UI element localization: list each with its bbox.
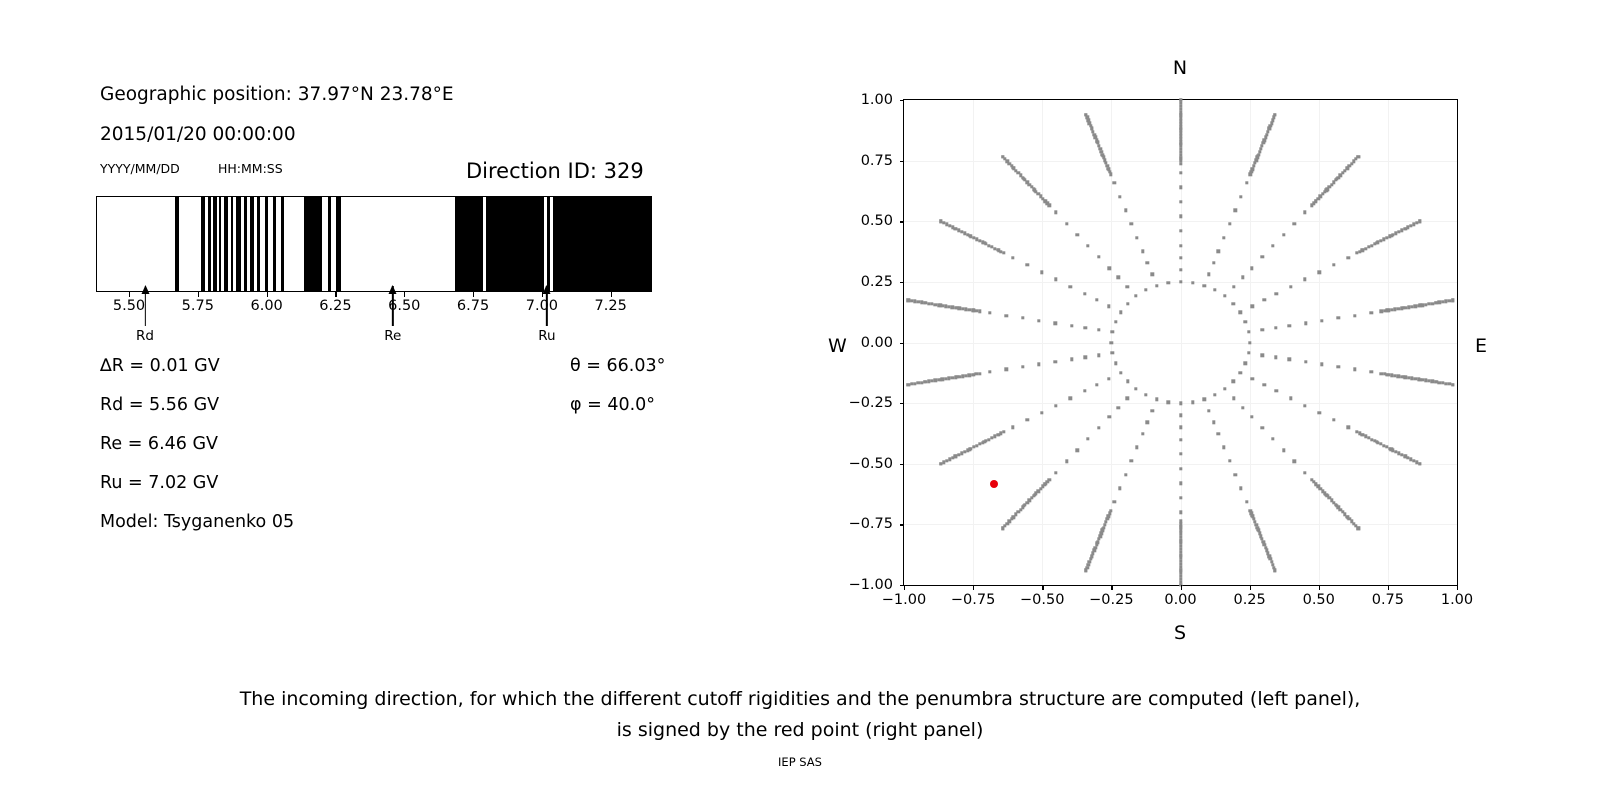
direction-point bbox=[1179, 244, 1182, 247]
direction-point bbox=[1191, 281, 1194, 284]
direction-point bbox=[1021, 365, 1024, 368]
x-axis-tick bbox=[1111, 585, 1112, 590]
direction-point bbox=[906, 299, 909, 302]
direction-point bbox=[1251, 304, 1254, 307]
direction-point bbox=[942, 221, 945, 224]
direction-point bbox=[966, 448, 969, 451]
direction-points-layer bbox=[904, 100, 1457, 585]
direction-point bbox=[1303, 404, 1306, 407]
direction-point bbox=[947, 305, 950, 308]
direction-point bbox=[1222, 446, 1225, 449]
y-axis-tick-label: −1.00 bbox=[849, 577, 893, 593]
y-axis-tick-label: 0.75 bbox=[861, 153, 893, 169]
direction-point bbox=[1144, 288, 1147, 291]
direction-point bbox=[1223, 387, 1226, 390]
direction-point bbox=[945, 459, 948, 462]
y-axis-tick bbox=[900, 403, 905, 404]
direction-point bbox=[1179, 110, 1182, 113]
direction-point bbox=[954, 227, 957, 230]
penumbra-forbidden-band bbox=[257, 197, 260, 291]
direction-point bbox=[978, 442, 981, 445]
y-axis-tick-label: 1.00 bbox=[861, 92, 893, 108]
direction-point bbox=[1011, 256, 1014, 259]
x-axis-tick bbox=[1250, 585, 1251, 590]
direction-point bbox=[945, 223, 948, 226]
penumbra-axis-tick-label: 6.25 bbox=[319, 298, 351, 314]
direction-point bbox=[1357, 527, 1360, 530]
direction-point bbox=[960, 451, 963, 454]
direction-point bbox=[1146, 421, 1149, 424]
direction-point bbox=[1248, 341, 1251, 344]
direction-point bbox=[1232, 397, 1235, 400]
direction-point bbox=[1107, 304, 1110, 307]
direction-point bbox=[960, 230, 963, 233]
direction-point bbox=[1002, 251, 1005, 254]
direction-point bbox=[1179, 229, 1182, 232]
direction-point bbox=[917, 381, 920, 384]
direction-point bbox=[1179, 280, 1182, 283]
direction-point bbox=[1179, 215, 1182, 218]
direction-point bbox=[954, 454, 957, 457]
direction-point bbox=[1108, 266, 1111, 269]
direction-point bbox=[990, 436, 993, 439]
y-axis-tick-label: 0.00 bbox=[861, 335, 893, 351]
direction-point bbox=[981, 441, 984, 444]
direction-point bbox=[1130, 459, 1133, 462]
penumbra-rigidity-axis: 5.505.756.006.256.506.757.007.25 bbox=[96, 292, 652, 306]
direction-point bbox=[1337, 316, 1340, 319]
direction-point bbox=[1288, 324, 1291, 327]
y-axis-tick bbox=[900, 282, 905, 283]
direction-point bbox=[1070, 358, 1073, 361]
direction-point bbox=[988, 311, 991, 314]
direction-point bbox=[1239, 371, 1242, 374]
direction-point bbox=[1245, 500, 1248, 503]
direction-point bbox=[1357, 155, 1360, 158]
direction-point bbox=[1179, 141, 1182, 144]
penumbra-forbidden-band bbox=[208, 197, 211, 291]
direction-point bbox=[930, 302, 933, 305]
penumbra-forbidden-band bbox=[553, 197, 652, 291]
param-ru: Ru = 7.02 GV bbox=[100, 473, 218, 493]
direction-point bbox=[1114, 362, 1117, 365]
x-axis-tick-label: 0.25 bbox=[1233, 592, 1265, 608]
direction-point bbox=[1332, 418, 1335, 421]
direction-point bbox=[972, 445, 975, 448]
direction-point bbox=[1260, 328, 1263, 331]
direction-point bbox=[1179, 414, 1182, 417]
direction-point bbox=[1076, 233, 1079, 236]
penumbra-forbidden-band bbox=[219, 197, 221, 291]
direction-point bbox=[1179, 129, 1182, 132]
direction-point bbox=[975, 444, 978, 447]
x-axis-tick-label: −1.00 bbox=[882, 592, 926, 608]
direction-point bbox=[1150, 272, 1153, 275]
direction-point bbox=[1114, 320, 1117, 323]
y-axis-tick bbox=[900, 221, 905, 222]
direction-point bbox=[987, 244, 990, 247]
compass-west-label: W bbox=[828, 335, 847, 357]
penumbra-axis-tick bbox=[611, 292, 612, 297]
direction-point bbox=[944, 304, 947, 307]
direction-point bbox=[971, 309, 974, 312]
direction-point bbox=[1155, 398, 1158, 401]
direction-point bbox=[1084, 569, 1087, 572]
direction-point bbox=[1167, 401, 1170, 404]
direction-point bbox=[1086, 244, 1089, 247]
penumbra-plot-area bbox=[96, 196, 652, 292]
direction-point bbox=[924, 380, 927, 383]
direction-point bbox=[1263, 383, 1266, 386]
penumbra-forbidden-band bbox=[336, 197, 341, 291]
penumbra-axis-tick bbox=[267, 292, 268, 297]
footer-label: IEP SAS bbox=[0, 755, 1600, 769]
direction-point bbox=[1135, 446, 1138, 449]
penumbra-axis-tick bbox=[129, 292, 130, 297]
direction-point bbox=[1054, 471, 1057, 474]
direction-point bbox=[941, 304, 944, 307]
direction-point bbox=[947, 377, 950, 380]
direction-point bbox=[958, 375, 961, 378]
direction-point bbox=[1076, 449, 1079, 452]
direction-point bbox=[1179, 511, 1182, 514]
direction-point bbox=[1241, 406, 1244, 409]
marker-arrow-icon bbox=[141, 285, 149, 294]
direction-point bbox=[1179, 144, 1182, 147]
direction-point bbox=[1271, 244, 1274, 247]
direction-point bbox=[1026, 418, 1029, 421]
direction-point bbox=[1083, 326, 1086, 329]
y-axis-tick bbox=[900, 161, 905, 162]
penumbra-forbidden-band bbox=[547, 197, 550, 291]
direction-point bbox=[1239, 195, 1242, 198]
direction-point bbox=[1097, 328, 1100, 331]
y-axis-tick bbox=[900, 464, 905, 465]
direction-point bbox=[954, 306, 957, 309]
direction-point bbox=[1217, 432, 1220, 435]
direction-point bbox=[1146, 261, 1149, 264]
direction-point bbox=[1011, 426, 1014, 429]
direction-point bbox=[1040, 270, 1043, 273]
direction-point bbox=[978, 310, 981, 313]
direction-id-label: Direction ID: 329 bbox=[466, 159, 644, 183]
direction-point bbox=[1002, 430, 1005, 433]
penumbra-forbidden-band bbox=[265, 197, 268, 291]
direction-point bbox=[1289, 397, 1292, 400]
direction-point bbox=[1118, 195, 1121, 198]
geographic-position-label: Geographic position: 37.97°N 23.78°E bbox=[100, 84, 454, 105]
direction-point bbox=[1179, 98, 1182, 101]
direction-point bbox=[1289, 285, 1292, 288]
direction-point bbox=[1135, 236, 1138, 239]
direction-point bbox=[1179, 171, 1182, 174]
direction-point bbox=[1213, 393, 1216, 396]
direction-point bbox=[1179, 256, 1182, 259]
y-axis-tick bbox=[900, 100, 905, 101]
direction-point bbox=[1179, 156, 1182, 159]
penumbra-forbidden-band bbox=[250, 197, 254, 291]
direction-point bbox=[996, 433, 999, 436]
direction-point bbox=[1239, 310, 1242, 313]
marker-label: Re bbox=[384, 328, 401, 344]
direction-point bbox=[1005, 368, 1008, 371]
direction-point bbox=[963, 232, 966, 235]
direction-point bbox=[917, 300, 920, 303]
direction-point bbox=[1337, 365, 1340, 368]
direction-point bbox=[1095, 383, 1098, 386]
direction-point bbox=[954, 376, 957, 379]
direction-point bbox=[1273, 569, 1276, 572]
penumbra-panel: Geographic position: 37.97°N 23.78°E 201… bbox=[0, 0, 760, 660]
direction-point bbox=[984, 242, 987, 245]
direction-point bbox=[1054, 211, 1057, 214]
direction-point bbox=[1144, 393, 1147, 396]
direction-point bbox=[964, 374, 967, 377]
penumbra-forbidden-band bbox=[455, 197, 483, 291]
direction-point bbox=[1107, 377, 1110, 380]
direction-point bbox=[1126, 380, 1129, 383]
direction-point bbox=[1097, 255, 1100, 258]
direction-point bbox=[1117, 276, 1120, 279]
direction-point bbox=[939, 220, 942, 223]
direction-point bbox=[1001, 527, 1004, 530]
direction-point bbox=[961, 374, 964, 377]
direction-point bbox=[1346, 426, 1349, 429]
direction-point bbox=[1228, 459, 1231, 462]
direction-point bbox=[1111, 351, 1114, 354]
direction-point bbox=[1069, 285, 1072, 288]
direction-point bbox=[1179, 101, 1182, 104]
direction-point bbox=[1125, 397, 1128, 400]
direction-point bbox=[951, 306, 954, 309]
penumbra-forbidden-band bbox=[244, 197, 247, 291]
datetime-label: 2015/01/20 00:00:00 bbox=[100, 124, 296, 145]
direction-point bbox=[1054, 278, 1057, 281]
direction-point bbox=[951, 376, 954, 379]
selected-direction-marker[interactable] bbox=[990, 480, 998, 488]
x-axis-tick-label: −0.75 bbox=[951, 592, 995, 608]
direction-point bbox=[1117, 406, 1120, 409]
direction-point bbox=[1232, 285, 1235, 288]
direction-point bbox=[1234, 473, 1237, 476]
direction-point bbox=[1119, 310, 1122, 313]
param-rd: Rd = 5.56 GV bbox=[100, 395, 219, 415]
direction-point bbox=[1304, 321, 1307, 324]
direction-point bbox=[1241, 276, 1244, 279]
direction-point bbox=[1353, 314, 1356, 317]
x-axis-tick-label: 0.00 bbox=[1164, 592, 1196, 608]
direction-point bbox=[1303, 278, 1306, 281]
penumbra-axis-tick bbox=[335, 292, 336, 297]
direction-point bbox=[1369, 370, 1372, 373]
x-axis-tick-label: 0.75 bbox=[1372, 592, 1404, 608]
direction-point bbox=[1239, 487, 1242, 490]
param-phi: φ = 40.0° bbox=[570, 395, 655, 415]
date-format-hint: YYYY/MM/DD bbox=[100, 161, 180, 176]
direction-point bbox=[1282, 449, 1285, 452]
marker-label: Ru bbox=[538, 328, 555, 344]
marker-label: Rd bbox=[136, 328, 154, 344]
direction-point bbox=[1026, 263, 1029, 266]
direction-point bbox=[1232, 302, 1235, 305]
direction-point bbox=[1250, 415, 1253, 418]
direction-point bbox=[1167, 281, 1170, 284]
caption-line-2: is signed by the red point (right panel) bbox=[0, 715, 1600, 746]
direction-point bbox=[1275, 389, 1278, 392]
direction-point bbox=[1207, 409, 1210, 412]
direction-point bbox=[1005, 314, 1008, 317]
direction-point bbox=[987, 438, 990, 441]
direction-point bbox=[972, 236, 975, 239]
direction-point bbox=[1282, 233, 1285, 236]
direction-point bbox=[944, 377, 947, 380]
x-axis-tick-label: −0.50 bbox=[1020, 592, 1064, 608]
direction-point bbox=[1288, 358, 1291, 361]
direction-point bbox=[1274, 326, 1277, 329]
direction-point bbox=[981, 241, 984, 244]
direction-point bbox=[1369, 311, 1372, 314]
direction-point bbox=[1212, 261, 1215, 264]
direction-point bbox=[1118, 487, 1121, 490]
direction-point bbox=[1179, 135, 1182, 138]
penumbra-forbidden-band bbox=[281, 197, 284, 291]
penumbra-axis-tick-label: 5.50 bbox=[113, 298, 145, 314]
direction-point bbox=[1070, 324, 1073, 327]
direction-point bbox=[1124, 209, 1127, 212]
direction-point bbox=[1320, 319, 1323, 322]
direction-point bbox=[1065, 460, 1068, 463]
penumbra-forbidden-band bbox=[213, 197, 217, 291]
penumbra-axis-tick bbox=[473, 292, 474, 297]
direction-point bbox=[1179, 113, 1182, 116]
direction-point bbox=[1217, 250, 1220, 253]
direction-point bbox=[1191, 401, 1194, 404]
x-axis-tick-label: 1.00 bbox=[1441, 592, 1473, 608]
direction-point bbox=[975, 238, 978, 241]
penumbra-axis-tick bbox=[404, 292, 405, 297]
direction-point bbox=[920, 301, 923, 304]
direction-point bbox=[1084, 113, 1087, 116]
direction-point bbox=[1125, 285, 1128, 288]
direction-point bbox=[1097, 426, 1100, 429]
direction-point bbox=[1247, 330, 1250, 333]
direction-point bbox=[1273, 113, 1276, 116]
direction-point bbox=[1303, 471, 1306, 474]
direction-point bbox=[927, 380, 930, 383]
direction-point bbox=[1155, 284, 1158, 287]
direction-point bbox=[963, 450, 966, 453]
direction-point bbox=[1179, 268, 1182, 271]
direction-point bbox=[1083, 356, 1086, 359]
direction-point bbox=[1054, 404, 1057, 407]
direction-point bbox=[1179, 452, 1182, 455]
direction-point bbox=[1179, 186, 1182, 189]
direction-point bbox=[1113, 500, 1116, 503]
sky-map-panel: N S W E −1.00−0.75−0.50−0.250.000.250.50… bbox=[760, 0, 1600, 660]
x-axis-tick bbox=[904, 585, 905, 590]
y-axis-tick-label: −0.50 bbox=[849, 456, 893, 472]
direction-point bbox=[1179, 153, 1182, 156]
y-axis-tick-label: 0.50 bbox=[861, 213, 893, 229]
y-axis-tick bbox=[900, 343, 905, 344]
penumbra-spectrum-chart bbox=[96, 196, 652, 292]
direction-point bbox=[1304, 360, 1307, 363]
direction-point bbox=[939, 462, 942, 465]
direction-point bbox=[1263, 298, 1266, 301]
direction-point bbox=[984, 439, 987, 442]
direction-point bbox=[1245, 181, 1248, 184]
direction-point bbox=[1179, 120, 1182, 123]
direction-point bbox=[1202, 284, 1205, 287]
direction-point bbox=[942, 461, 945, 464]
direction-point bbox=[1095, 298, 1098, 301]
direction-point bbox=[957, 229, 960, 232]
direction-point bbox=[1037, 319, 1040, 322]
direction-point bbox=[924, 301, 927, 304]
direction-point bbox=[1261, 255, 1264, 258]
marker-arrow-icon bbox=[389, 285, 397, 294]
penumbra-forbidden-band bbox=[175, 197, 179, 291]
direction-point bbox=[1111, 330, 1114, 333]
penumbra-forbidden-band bbox=[201, 197, 205, 291]
direction-point bbox=[934, 303, 937, 306]
direction-point bbox=[964, 308, 967, 311]
direction-point bbox=[1318, 411, 1321, 414]
param-re: Re = 6.46 GV bbox=[100, 434, 218, 454]
direction-point bbox=[1086, 437, 1089, 440]
direction-point bbox=[906, 383, 909, 386]
direction-point bbox=[975, 309, 978, 312]
direction-point bbox=[993, 247, 996, 250]
direction-point bbox=[1001, 155, 1004, 158]
direction-point bbox=[1274, 356, 1277, 359]
direction-point bbox=[1261, 426, 1264, 429]
direction-point bbox=[948, 458, 951, 461]
direction-point bbox=[1251, 377, 1254, 380]
penumbra-forbidden-band bbox=[304, 197, 322, 291]
direction-point bbox=[958, 307, 961, 310]
direction-point bbox=[1418, 462, 1421, 465]
time-format-hint: HH:MM:SS bbox=[218, 161, 283, 176]
direction-point bbox=[1179, 123, 1182, 126]
direction-point bbox=[1320, 363, 1323, 366]
direction-point bbox=[1213, 288, 1216, 291]
penumbra-axis-tick-label: 7.25 bbox=[595, 298, 627, 314]
direction-point bbox=[1332, 263, 1335, 266]
direction-point bbox=[988, 370, 991, 373]
caption-line-1: The incoming direction, for which the di… bbox=[0, 684, 1600, 715]
direction-point bbox=[1179, 496, 1182, 499]
direction-point bbox=[1040, 411, 1043, 414]
compass-north-label: N bbox=[1173, 57, 1187, 79]
y-axis-tick-label: −0.75 bbox=[849, 516, 893, 532]
direction-point bbox=[978, 239, 981, 242]
x-axis-tick bbox=[973, 585, 974, 590]
x-axis-tick bbox=[1457, 585, 1458, 590]
direction-point bbox=[1318, 270, 1321, 273]
direction-point bbox=[1054, 321, 1057, 324]
direction-point bbox=[910, 382, 913, 385]
direction-point bbox=[1179, 126, 1182, 129]
direction-point bbox=[1293, 460, 1296, 463]
direction-point bbox=[920, 381, 923, 384]
direction-point bbox=[1054, 360, 1057, 363]
direction-point bbox=[941, 378, 944, 381]
penumbra-axis-tick-label: 6.75 bbox=[457, 298, 489, 314]
direction-point bbox=[1179, 104, 1182, 107]
direction-point bbox=[966, 233, 969, 236]
direction-point bbox=[968, 308, 971, 311]
